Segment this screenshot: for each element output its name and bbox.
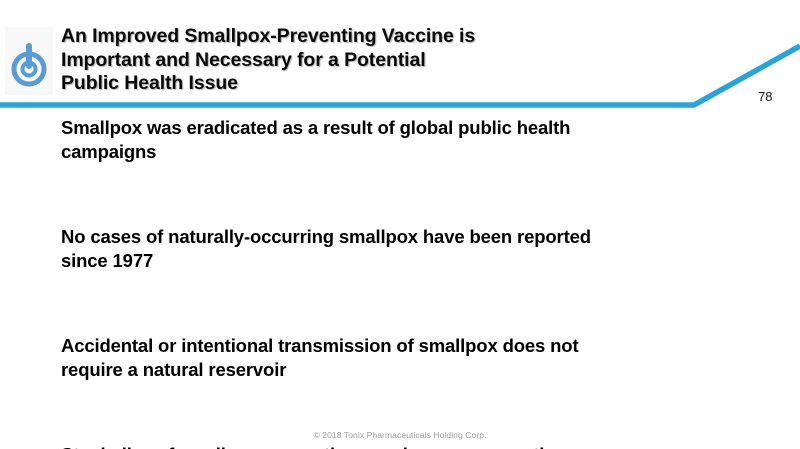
page-title-line-2: Important and Necessary for a Potential [61, 49, 701, 73]
page-title-line-3: Public Health Issue [61, 72, 701, 96]
power-button-logo-icon [11, 37, 47, 87]
bullet-line-2: campaigns [61, 140, 761, 164]
logo-container [5, 27, 53, 95]
list-item: No cases of naturally-occurring smallpox… [61, 225, 761, 273]
page-number: 78 [758, 89, 772, 105]
footer-copyright: © 2018 Tonix Pharmaceuticals Holding Cor… [0, 429, 800, 441]
bullet-line-1: Smallpox was eradicated as a result of g… [61, 116, 761, 140]
slide-canvas: An Improved Smallpox-Preventing Vaccine … [0, 0, 800, 449]
bullet-line-1: Accidental or intentional transmission o… [61, 334, 761, 358]
bullet-line-1: Stockpiles of smallpox-preventing vaccin… [61, 443, 761, 449]
page-title: An Improved Smallpox-Preventing Vaccine … [61, 25, 701, 96]
list-item: Accidental or intentional transmission o… [61, 334, 761, 382]
list-item: Smallpox was eradicated as a result of g… [61, 116, 761, 164]
page-title-line-1: An Improved Smallpox-Preventing Vaccine … [61, 25, 701, 49]
bullet-line-1: No cases of naturally-occurring smallpox… [61, 225, 761, 249]
bullet-line-2: require a natural reservoir [61, 358, 761, 382]
bullet-line-2: since 1977 [61, 249, 761, 273]
slide-header: An Improved Smallpox-Preventing Vaccine … [0, 0, 800, 112]
bullet-list: Smallpox was eradicated as a result of g… [61, 116, 761, 449]
list-item: Stockpiles of smallpox-preventing vaccin… [61, 443, 761, 449]
